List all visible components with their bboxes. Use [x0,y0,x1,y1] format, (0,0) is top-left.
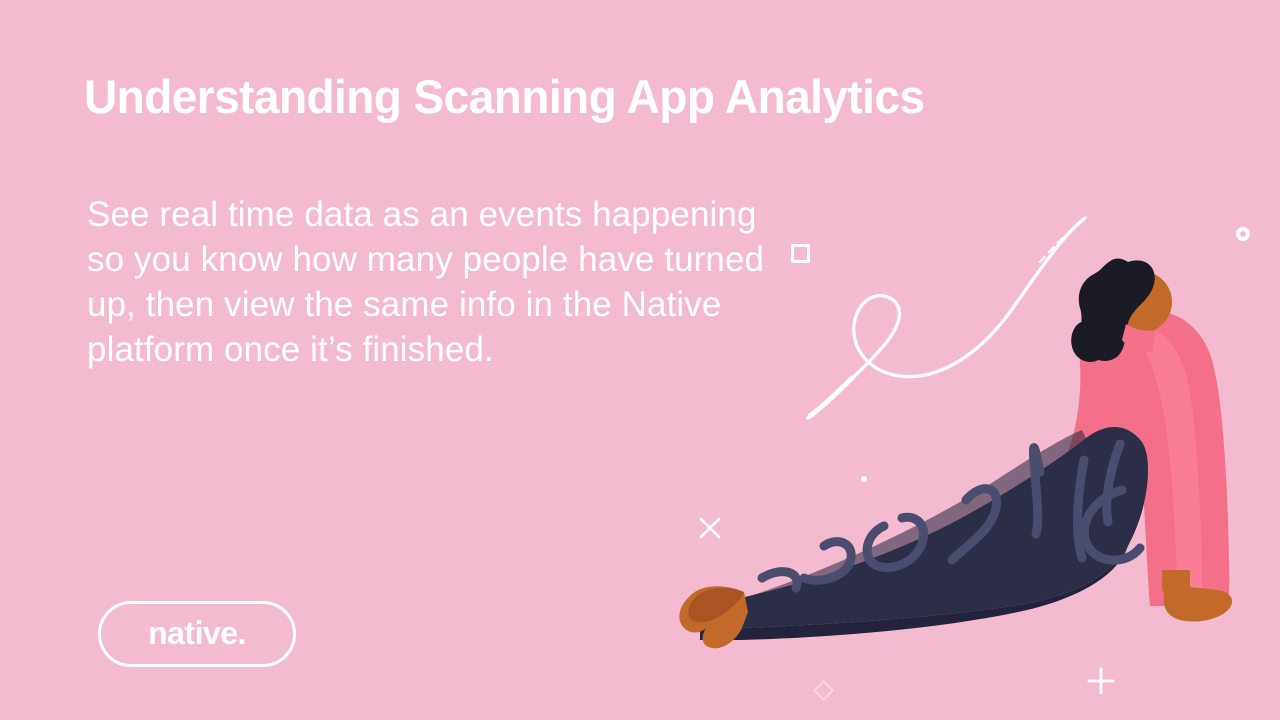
trousers-pattern [762,444,1140,588]
presentation-slide: Understanding Scanning App Analytics See… [0,0,1280,720]
figure-left-foot [679,586,748,648]
square-outline-icon [791,244,810,263]
plus-mark-icon [1087,667,1115,695]
x-mark-icon [698,516,722,540]
zigzag-scribble [1162,498,1187,578]
page-title: Understanding Scanning App Analytics [84,72,1113,123]
figure-right-ankle [1162,570,1190,596]
figure-hair [1079,259,1155,361]
diamond-outline-icon [813,680,834,701]
figure-neck [1122,324,1156,352]
figure-top-highlight [1128,328,1202,606]
figure-trousers-upper-shade [744,430,1086,598]
loop-swirl-line [808,218,1086,418]
figure-shoulder [1060,325,1148,518]
figure-left-foot-shadow [688,588,744,623]
figure-hair-lower [1071,319,1110,362]
figure-top [1092,311,1229,606]
figure-right-foot [1164,586,1233,622]
small-ring-icon [861,476,867,482]
native-logo-badge: native. [98,601,296,667]
body-paragraph: See real time data as an events happenin… [87,192,777,372]
native-logo-text: native. [148,617,246,649]
figure-trousers [700,427,1148,630]
figure-trousers-shadow [700,546,1128,640]
ring-icon [1236,227,1250,241]
figure-face [1110,271,1172,333]
